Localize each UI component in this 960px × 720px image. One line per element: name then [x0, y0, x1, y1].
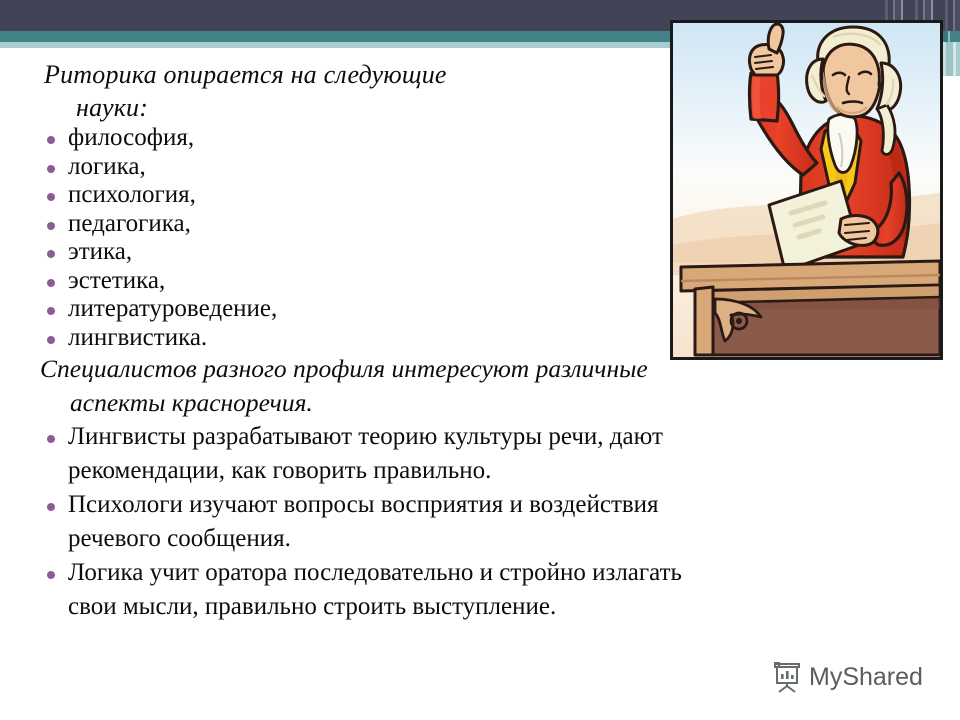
presentation-board-icon	[772, 662, 802, 693]
bullet-dot-icon	[47, 250, 55, 258]
bullet-dot-icon	[47, 307, 55, 315]
bullet-dot-icon	[47, 222, 55, 230]
list-item: логика,	[40, 153, 600, 182]
paragraph-line-2: речевого сообщения.	[68, 522, 930, 556]
paragraph-logic: Логика учит оратора последовательно и ст…	[40, 556, 930, 624]
list-item: философия,	[40, 124, 600, 153]
paragraph-line-1: Специалистов разного профиля интересуют …	[40, 354, 648, 383]
list-item-label: философия,	[68, 124, 194, 151]
list-item: этика,	[40, 238, 600, 267]
bullet-dot-icon	[47, 136, 55, 144]
orator-at-podium-image	[673, 23, 940, 357]
orator-illustration	[670, 20, 943, 360]
slide-heading-line-1: Риторика опирается на следующие	[44, 60, 447, 89]
list-item-label: логика,	[68, 153, 146, 180]
paragraph-line-1: Логика учит оратора последовательно и ст…	[68, 559, 682, 586]
list-item: психология,	[40, 181, 600, 210]
paragraph-line-2: аспекты красноречия.	[40, 386, 930, 420]
bullet-dot-icon	[47, 435, 55, 443]
list-item-label: литературоведение,	[68, 295, 277, 322]
paragraph-block: Специалистов разного профиля интересуют …	[0, 352, 930, 624]
myshared-watermark: MyShared	[772, 662, 923, 693]
paragraph-line-2: свои мысли, правильно строить выступлени…	[68, 590, 930, 624]
paragraph-specialists: Специалистов разного профиля интересуют …	[40, 352, 930, 420]
bullet-dot-icon	[47, 571, 55, 579]
slide-heading: Риторика опирается на следующие науки:	[0, 48, 644, 124]
paragraph-linguists: Лингвисты разрабатывают теорию культуры …	[40, 420, 930, 488]
list-item-label: педагогика,	[68, 210, 191, 237]
paragraph-line-1: Лингвисты разрабатывают теорию культуры …	[68, 423, 663, 450]
paragraph-psychologists: Психологи изучают вопросы восприятия и в…	[40, 488, 930, 556]
watermark-label: MyShared	[809, 663, 923, 692]
bullet-dot-icon	[47, 193, 55, 201]
list-item-label: лингвистика.	[68, 324, 207, 351]
bullet-dot-icon	[47, 336, 55, 344]
list-item-label: этика,	[68, 238, 132, 265]
paragraph-line-1: Психологи изучают вопросы восприятия и в…	[68, 491, 659, 518]
bullet-dot-icon	[47, 503, 55, 511]
bullet-dot-icon	[47, 279, 55, 287]
paragraph-line-2: рекомендации, как говорить правильно.	[68, 454, 930, 488]
sciences-list: философия, логика, психология, педагогик…	[0, 124, 600, 352]
bullet-dot-icon	[47, 165, 55, 173]
list-item-label: эстетика,	[68, 267, 165, 294]
list-item: эстетика,	[40, 267, 600, 296]
list-item: педагогика,	[40, 210, 600, 239]
slide-heading-line-2: науки:	[44, 91, 644, 124]
list-item-label: психология,	[68, 181, 196, 208]
list-item: литературоведение,	[40, 295, 600, 324]
list-item: лингвистика.	[40, 324, 600, 353]
